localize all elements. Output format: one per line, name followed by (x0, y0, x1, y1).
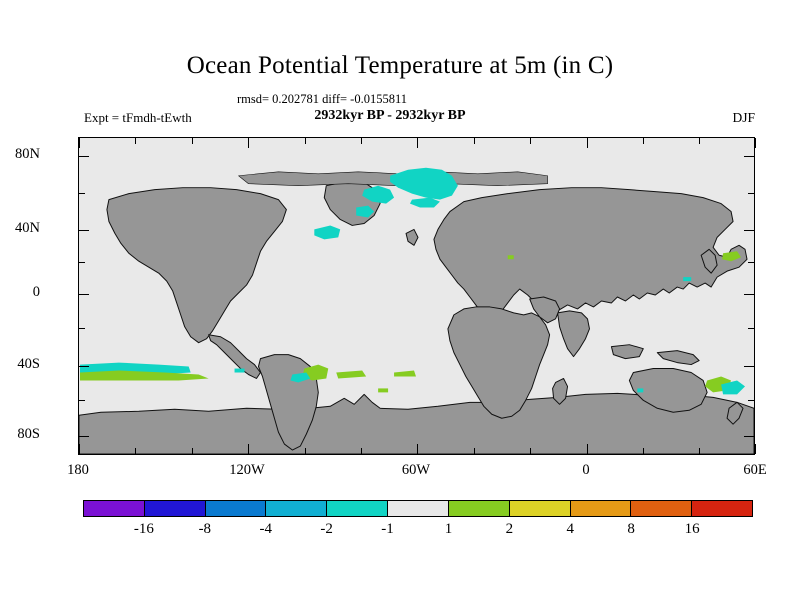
y-tick-right-0 (744, 294, 754, 295)
y-tick-right-minor-3 (748, 328, 754, 329)
x-tick-minor-4 (361, 448, 362, 454)
colorbar[interactable] (83, 500, 753, 517)
colorbar-label-1: -8 (180, 521, 230, 538)
season-label: DJF (732, 110, 755, 126)
y-tick-minor-3 (79, 328, 85, 329)
y-tick-minor-4 (79, 400, 85, 401)
x-tick-60w (417, 444, 418, 454)
x-tick-minor-3 (305, 448, 306, 454)
y-tick-right-40n (744, 230, 754, 231)
colorbar-label-3: -2 (302, 521, 352, 538)
y-tick-right-minor-2 (748, 262, 754, 263)
colorbar-segment-10[interactable] (691, 501, 752, 516)
x-tick-top-minor-5 (474, 138, 475, 144)
page-title: Ocean Potential Temperature at 5m (in C) (0, 52, 800, 80)
x-tick-minor-8 (699, 448, 700, 454)
y-axis-label-40n: 40N (0, 220, 40, 237)
y-tick-right-40s (744, 366, 754, 367)
x-tick-top-minor-7 (643, 138, 644, 144)
x-tick-minor-6 (530, 448, 531, 454)
colorbar-segment-4[interactable] (326, 501, 387, 516)
colorbar-label-2: -4 (241, 521, 291, 538)
x-tick-180w (79, 444, 80, 454)
y-tick-40s (79, 366, 89, 367)
x-tick-120w (248, 444, 249, 454)
anomaly-spacific-spot (235, 369, 245, 373)
x-tick-top-minor-4 (361, 138, 362, 144)
y-tick-minor-2 (79, 262, 85, 263)
colorbar-label-4: -1 (363, 521, 413, 538)
colorbar-label-5: 1 (423, 521, 473, 538)
x-tick-180e (755, 444, 756, 454)
x-tick-minor-5 (474, 448, 475, 454)
colorbar-segment-2[interactable] (205, 501, 266, 516)
anomaly-japan-sea-spot (683, 277, 691, 281)
statistics-line: rmsd= 0.202781 diff= -0.0155811 (0, 92, 800, 107)
x-axis-label-180w: 180 (48, 462, 108, 479)
x-tick-top-0 (587, 138, 588, 148)
y-axis-label-80s: 80S (0, 426, 40, 443)
y-tick-right-minor-1 (748, 193, 754, 194)
x-tick-top-minor-1 (135, 138, 136, 144)
colorbar-segment-0[interactable] (84, 501, 144, 516)
period-text: 2932kyr BP - 2932kyr BP (314, 108, 465, 123)
statistics-text: rmsd= 0.202781 diff= -0.0155811 (237, 92, 407, 106)
period-label: 2932kyr BP - 2932kyr BP (0, 108, 800, 124)
y-axis-label-80n: 80N (0, 146, 40, 163)
colorbar-segment-3[interactable] (265, 501, 326, 516)
x-tick-top-180e (755, 138, 756, 148)
x-axis-label-60w: 60W (386, 462, 446, 479)
x-tick-top-minor-3 (305, 138, 306, 144)
colorbar-label-9: 16 (667, 521, 717, 538)
colorbar-label-0: -16 (119, 521, 169, 538)
anomaly-south-africa-spot (378, 388, 388, 392)
x-tick-top-60w (417, 138, 418, 148)
y-axis-label-40s: 40S (0, 356, 40, 373)
x-tick-top-minor-6 (530, 138, 531, 144)
colorbar-segment-5[interactable] (387, 501, 448, 516)
y-tick-minor-1 (79, 193, 85, 194)
map-plot-area[interactable] (78, 137, 755, 455)
x-tick-minor-1 (135, 448, 136, 454)
x-tick-minor-7 (643, 448, 644, 454)
y-tick-80n (79, 156, 89, 157)
colorbar-segment-9[interactable] (630, 501, 691, 516)
y-axis-label-0: 0 (0, 284, 40, 301)
x-axis-label-120w: 120W (217, 462, 277, 479)
x-tick-top-180w (79, 138, 80, 148)
colorbar-label-6: 2 (484, 521, 534, 538)
y-tick-40n (79, 230, 89, 231)
x-tick-0 (587, 444, 588, 454)
anomaly-caspian-spot (508, 255, 514, 259)
x-axis-label-0: 0 (556, 462, 616, 479)
colorbar-segment-8[interactable] (570, 501, 631, 516)
y-tick-right-minor-4 (748, 400, 754, 401)
x-axis-label-60e: 60E (725, 462, 785, 479)
y-tick-0 (79, 294, 89, 295)
colorbar-label-8: 8 (606, 521, 656, 538)
y-tick-80s (79, 436, 89, 437)
x-tick-top-120w (248, 138, 249, 148)
x-tick-top-minor-8 (699, 138, 700, 144)
colorbar-segment-1[interactable] (144, 501, 205, 516)
y-tick-right-80s (744, 436, 754, 437)
y-tick-right-80n (744, 156, 754, 157)
world-map (79, 138, 754, 454)
colorbar-segment-7[interactable] (509, 501, 570, 516)
x-tick-minor-2 (192, 448, 193, 454)
colorbar-label-7: 4 (545, 521, 595, 538)
colorbar-segment-6[interactable] (448, 501, 509, 516)
x-tick-top-minor-2 (192, 138, 193, 144)
anomaly-south-indian-spot (637, 388, 643, 392)
